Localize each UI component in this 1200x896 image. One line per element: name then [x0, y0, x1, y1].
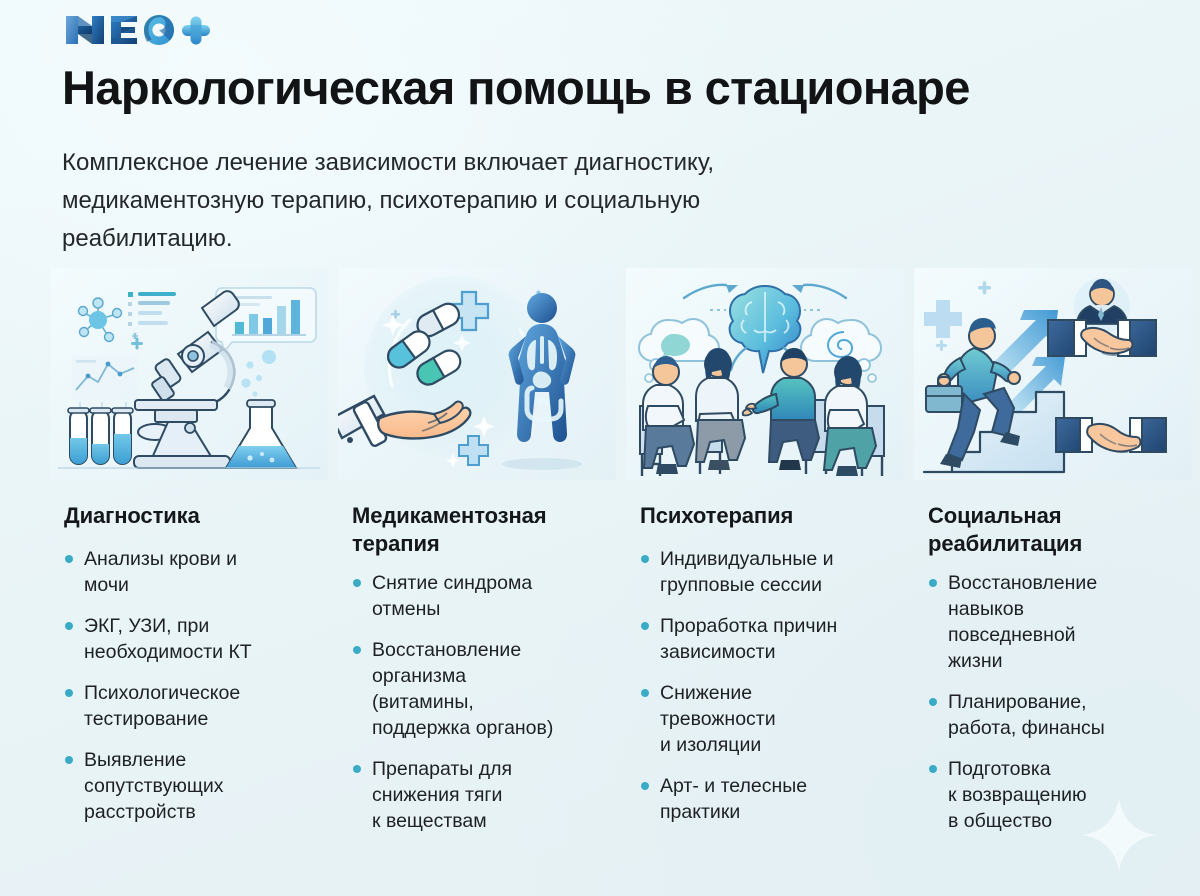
column-title-social-rehab: Социальная реабилитация: [914, 502, 1192, 558]
bullet-list-psychotherapy: Индивидуальные и групповые сессии Прораб…: [626, 546, 904, 840]
neo-plus-logo: [62, 8, 212, 54]
list-item: Снятие синдрома отмены: [352, 570, 616, 622]
list-item: Индивидуальные и групповые сессии: [640, 546, 904, 598]
list-item: Арт- и телесные практики: [640, 773, 904, 825]
column-diagnostics: Диагностика Анализы крови и мочи ЭКГ, УЗ…: [50, 268, 328, 849]
list-item: Восстановление навыков повседневной жизн…: [928, 570, 1192, 674]
list-item: Психологическое тестирование: [64, 680, 328, 732]
career-stairs-handshake-icon: [914, 268, 1192, 480]
column-title-diagnostics: Диагностика: [50, 502, 328, 530]
list-item: ЭКГ, УЗИ, при необходимости КТ: [64, 613, 328, 665]
service-columns: Диагностика Анализы крови и мочи ЭКГ, УЗ…: [50, 268, 1162, 849]
list-item: Анализы крови и мочи: [64, 546, 328, 598]
column-title-psychotherapy: Психотерапия: [626, 502, 904, 530]
list-item: Препараты для снижения тяги к веществам: [352, 756, 616, 834]
list-item: Проработка причин зависимости: [640, 613, 904, 665]
page-title: Наркологическая помощь в стационаре: [62, 60, 1162, 116]
page-subtitle: Комплексное лечение зависимости включает…: [62, 144, 962, 258]
infographic-page: Наркологическая помощь в стационаре Комп…: [0, 0, 1200, 896]
list-item: Выявление сопутствующих расстройств: [64, 747, 328, 825]
list-item: Планирование, работа, финансы: [928, 689, 1192, 741]
bullet-list-social-rehab: Восстановление навыков повседневной жизн…: [914, 570, 1192, 849]
microscope-lab-icon: [50, 268, 328, 480]
bullet-list-diagnostics: Анализы крови и мочи ЭКГ, УЗИ, при необх…: [50, 546, 328, 840]
column-psychotherapy: Психотерапия Индивидуальные и групповые …: [626, 268, 904, 849]
column-social-rehab: Социальная реабилитация Восстановление н…: [914, 268, 1192, 849]
list-item: Восстановление организма (витамины, подд…: [352, 637, 616, 741]
column-medication: Медикаментозная терапия Снятие синдрома …: [338, 268, 616, 849]
column-title-medication: Медикаментозная терапия: [338, 502, 616, 558]
bullet-list-medication: Снятие синдрома отмены Восстановление ор…: [338, 570, 616, 849]
group-therapy-icon: [626, 268, 904, 480]
hand-with-pills-icon: [338, 268, 616, 480]
list-item: Снижение тревожности и изоляции: [640, 680, 904, 758]
list-item: Подготовка к возвращению в общество: [928, 756, 1192, 834]
